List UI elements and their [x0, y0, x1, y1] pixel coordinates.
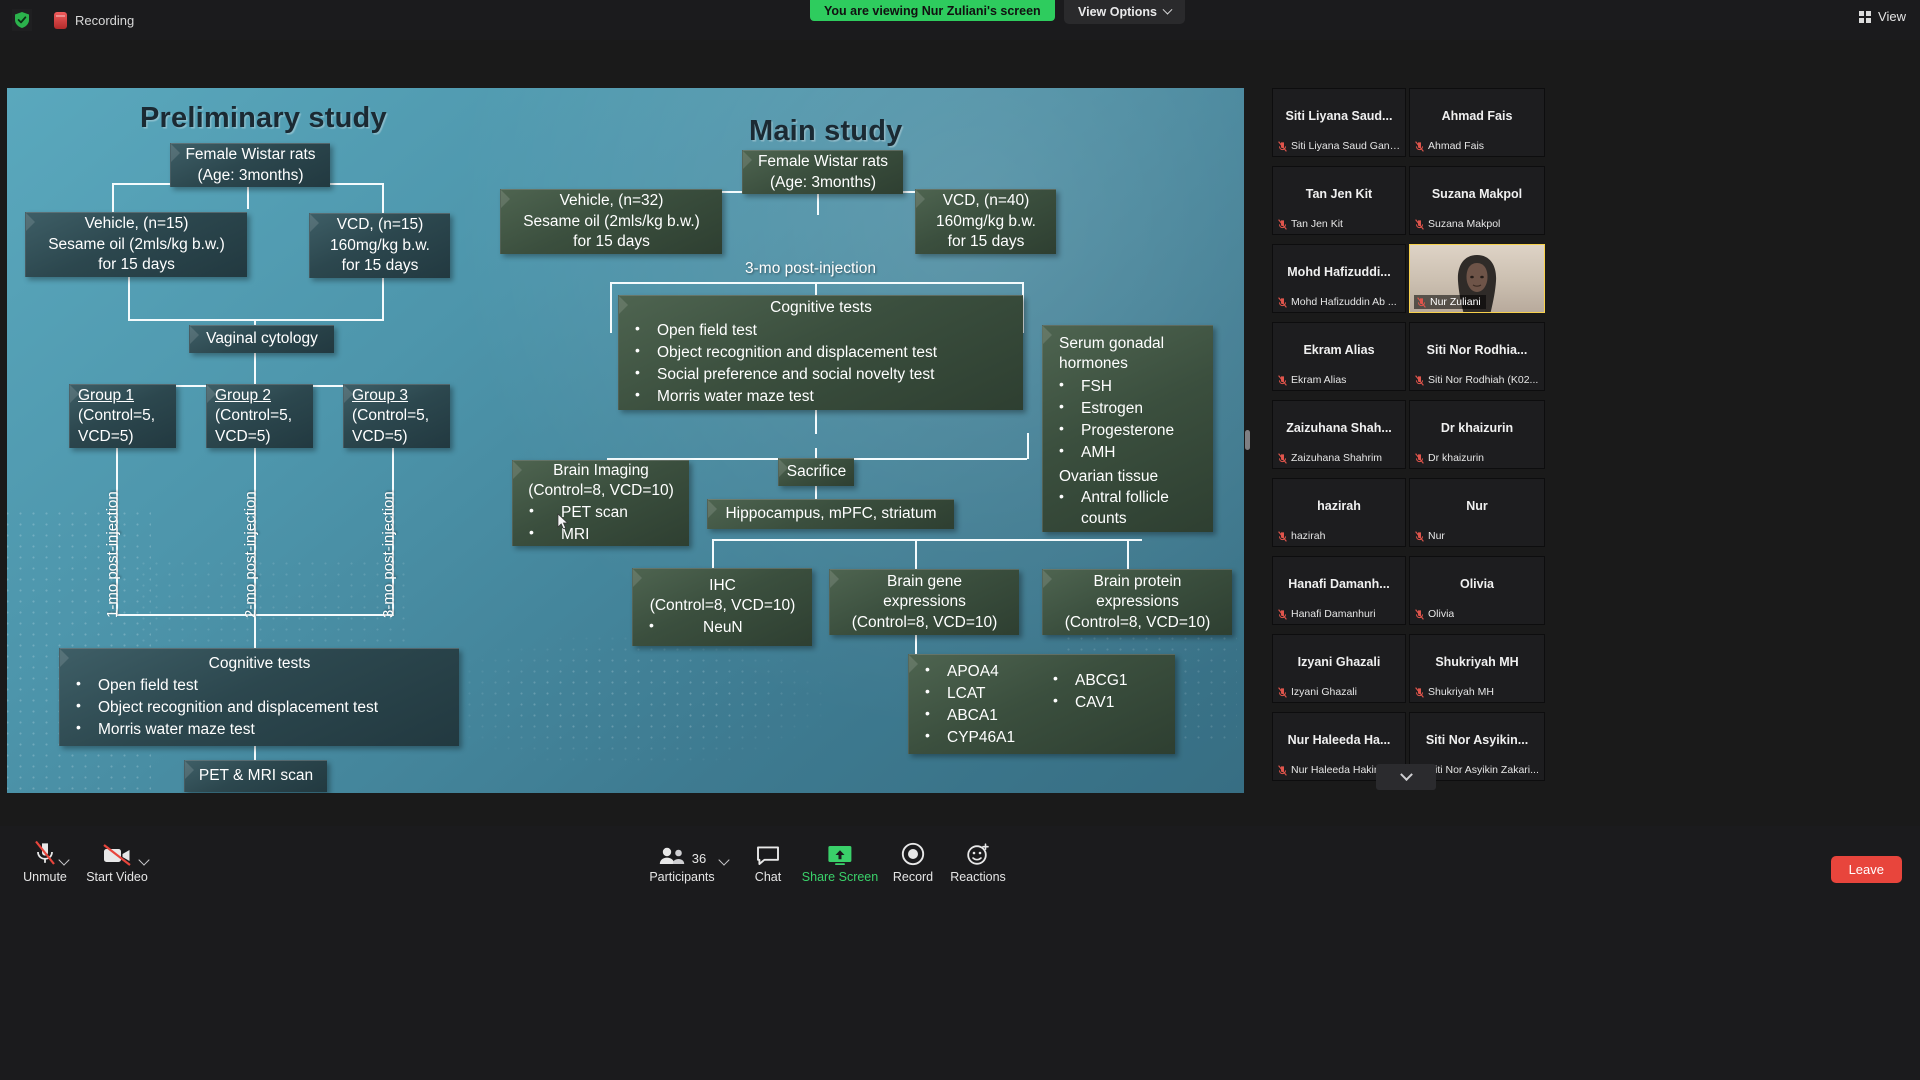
list-item: Progesterone — [1051, 420, 1205, 442]
recording-indicator[interactable]: Recording — [54, 12, 134, 29]
participant-caption: Izyani Ghazali — [1291, 686, 1357, 698]
prelim-cognitive-title: Cognitive tests — [68, 654, 451, 674]
list-item: Estrogen — [1051, 398, 1205, 420]
main-study-title: Main study — [749, 115, 902, 148]
mic-muted-icon — [1415, 609, 1424, 620]
participant-footer: Olivia — [1415, 608, 1540, 620]
ihc-line2: (Control=8, VCD=10) — [641, 596, 804, 616]
mic-muted-icon — [34, 838, 56, 866]
ihc-box: IHC (Control=8, VCD=10) NeuN — [632, 568, 812, 646]
prelim-vcd-line2: 160mg/kg b.w. — [330, 236, 430, 256]
record-label: Record — [893, 870, 933, 884]
participant-name: Zaizuhana Shah... — [1273, 421, 1405, 435]
participant-name: Olivia — [1410, 577, 1544, 591]
sacrifice-label: Sacrifice — [787, 462, 846, 482]
participant-caption: Siti Nor Asyikin Zakari... — [1428, 764, 1539, 776]
group-1-line2: VCD=5) — [78, 427, 134, 447]
participants-label: Participants — [649, 870, 714, 884]
main-vcd-line2: 160mg/kg b.w. — [936, 212, 1036, 232]
list-item: Object recognition and displacement test — [627, 342, 1015, 364]
participant-name: Siti Nor Asyikin... — [1410, 733, 1544, 747]
protein-line3: (Control=8, VCD=10) — [1065, 613, 1211, 633]
list-item: ABCA1 — [917, 705, 1045, 727]
preliminary-study-title: Preliminary study — [140, 102, 387, 135]
vaginal-cytology-box: Vaginal cytology — [189, 325, 334, 353]
main-vehicle-line3: for 15 days — [573, 232, 650, 252]
ovarian-items-list: Antral follicle counts — [1051, 488, 1205, 529]
group-2-box: Group 2 (Control=5, VCD=5) — [206, 384, 313, 448]
list-item: MRI — [521, 524, 681, 546]
participant-name: Nur — [1410, 499, 1544, 513]
list-item: CAV1 — [1045, 692, 1165, 714]
gene-list-box: APOA4 LCAT ABCA1 CYP46A1 ABCG1 CAV1 — [908, 654, 1175, 754]
participant-footer: Nur Zuliani — [1414, 295, 1486, 309]
timeline-3mo-label: 3-mo post-injection — [380, 491, 397, 618]
list-item: FSH — [1051, 376, 1205, 398]
connector — [382, 276, 384, 321]
group-1-name: Group 1 — [78, 386, 134, 406]
main-vehicle-line2: Sesame oil (2mls/kg b.w.) — [523, 212, 700, 232]
prelim-root-box: Female Wistar rats (Age: 3months) — [170, 143, 330, 187]
list-item: AMH — [1051, 442, 1205, 464]
protein-line2: expressions — [1096, 592, 1179, 612]
chevron-down-icon — [1163, 4, 1173, 14]
ihc-list: NeuN — [641, 617, 804, 639]
participant-caption: Siti Liyana Saud Gany... — [1291, 140, 1401, 152]
brain-gene-expressions-box: Brain gene expressions (Control=8, VCD=1… — [829, 569, 1019, 635]
prelim-cognitive-tests-box: Cognitive tests Open field test Object r… — [59, 648, 459, 746]
gene-line1: Brain gene — [887, 572, 962, 592]
participant-name: Ahmad Fais — [1410, 109, 1544, 123]
participant-footer: Siti Liyana Saud Gany... — [1278, 140, 1401, 152]
mouse-cursor — [557, 513, 569, 531]
participant-caption: Nur — [1428, 530, 1445, 542]
participant-name: Ekram Alias — [1273, 343, 1405, 357]
participant-footer: Ekram Alias — [1278, 374, 1401, 386]
record-icon — [901, 838, 925, 866]
panel-scroll-down-button[interactable] — [1376, 764, 1436, 790]
list-item: APOA4 — [917, 661, 1045, 683]
list-item: Morris water maze test — [68, 719, 451, 741]
group-2-line1: (Control=5, — [215, 406, 292, 426]
list-item: Object recognition and displacement test — [68, 697, 451, 719]
brain-regions-box: Hippocampus, mPFC, striatum — [707, 499, 954, 529]
connector — [247, 185, 249, 209]
participant-footer: Shukriyah MH — [1415, 686, 1540, 698]
group-2-name: Group 2 — [215, 386, 271, 406]
participant-footer: Zaizuhana Shahrim — [1278, 452, 1401, 464]
participant-tile-active-video[interactable]: Nur Zuliani — [1409, 244, 1545, 313]
connector — [1127, 539, 1129, 569]
participant-caption: Tan Jen Kit — [1291, 218, 1343, 230]
main-vehicle-box: Vehicle, (n=32) Sesame oil (2mls/kg b.w.… — [500, 189, 722, 254]
serum-title-line2: hormones — [1059, 354, 1205, 374]
participant-tile[interactable]: Ahmad Fais Ahmad Fais — [1409, 88, 1545, 157]
participant-caption: Zaizuhana Shahrim — [1291, 452, 1382, 464]
share-screen-icon — [827, 838, 853, 866]
reactions-button[interactable]: Reactions — [933, 838, 1023, 884]
list-item: Open field test — [68, 675, 451, 697]
participant-tile[interactable]: Tan Jen Kit Tan Jen Kit — [1272, 166, 1406, 235]
gene-line3: (Control=8, VCD=10) — [852, 613, 998, 633]
participant-caption: Mohd Hafizuddin Ab ... — [1291, 296, 1397, 308]
meeting-toolbar: Unmute Start Video 36 Participants Chat … — [0, 826, 1920, 1080]
group-2-line2: VCD=5) — [215, 427, 271, 447]
serum-title-line1: Serum gonadal — [1059, 334, 1205, 354]
list-item: LCAT — [917, 683, 1045, 705]
mic-muted-icon — [1417, 297, 1426, 308]
participant-footer: Hanafi Damanhuri — [1278, 608, 1401, 620]
mic-muted-icon — [1415, 687, 1424, 698]
participant-name: Mohd Hafizuddi... — [1273, 265, 1405, 279]
participant-caption: Dr khaizurin — [1428, 452, 1484, 464]
start-video-label: Start Video — [86, 870, 148, 884]
post-injection-label: 3-mo post-injection — [745, 260, 876, 278]
vaginal-cytology-label: Vaginal cytology — [206, 329, 318, 349]
mic-muted-icon — [1415, 375, 1424, 386]
list-item: CYP46A1 — [917, 727, 1045, 749]
participant-caption: hazirah — [1291, 530, 1325, 542]
participant-tile[interactable]: Zaizuhana Shah... Zaizuhana Shahrim — [1272, 400, 1406, 469]
list-item: Open field test — [627, 320, 1015, 342]
participant-name: Siti Liyana Saud... — [1273, 109, 1405, 123]
mic-muted-icon — [1278, 609, 1287, 620]
participant-tile[interactable]: hazirah hazirah — [1272, 478, 1406, 547]
list-item: PET scan — [521, 502, 681, 524]
participant-name: Izyani Ghazali — [1273, 655, 1405, 669]
view-label: View — [1878, 9, 1906, 24]
connector — [815, 410, 817, 434]
participant-name: Hanafi Damanh... — [1273, 577, 1405, 591]
prelim-vehicle-line1: Vehicle, (n=15) — [85, 214, 189, 234]
encryption-shield-icon[interactable] — [12, 9, 32, 31]
participant-name: Tan Jen Kit — [1273, 187, 1405, 201]
prelim-cognitive-list: Open field test Object recognition and d… — [68, 675, 451, 741]
participant-tile[interactable]: Izyani Ghazali Izyani Ghazali — [1272, 634, 1406, 703]
brain-protein-expressions-box: Brain protein expressions (Control=8, VC… — [1042, 569, 1232, 635]
sacrifice-box: Sacrifice — [778, 458, 854, 486]
participant-tile[interactable]: Mohd Hafizuddi... Mohd Hafizuddin Ab ... — [1272, 244, 1406, 313]
top-bar: Recording You are viewing Nur Zuliani's … — [0, 0, 1920, 40]
reactions-icon — [966, 838, 990, 866]
recording-label: Recording — [75, 13, 134, 28]
connector — [817, 193, 819, 215]
participant-footer: hazirah — [1278, 530, 1401, 542]
participant-caption: Hanafi Damanhuri — [1291, 608, 1376, 620]
pet-mri-label: PET & MRI scan — [199, 766, 313, 786]
participant-footer: Suzana Makpol — [1415, 218, 1540, 230]
participants-count: 36 — [692, 851, 706, 866]
view-button[interactable]: View — [1859, 9, 1906, 24]
leave-button[interactable]: Leave — [1831, 856, 1902, 883]
participant-name: Shukriyah MH — [1410, 655, 1544, 669]
brain-imaging-box: Brain Imaging (Control=8, VCD=10) PET sc… — [512, 460, 689, 546]
brain-imaging-line2: (Control=8, VCD=10) — [521, 481, 681, 501]
group-3-box: Group 3 (Control=5, VCD=5) — [343, 384, 450, 448]
participants-button[interactable]: 36 Participants — [637, 838, 727, 884]
main-vcd-line3: for 15 days — [948, 232, 1025, 252]
main-cognitive-list: Open field test Object recognition and d… — [627, 320, 1015, 408]
list-item: NeuN — [641, 617, 804, 639]
mic-muted-icon — [1278, 219, 1287, 230]
prelim-vcd-line1: VCD, (n=15) — [337, 215, 424, 235]
video-muted-icon — [102, 838, 132, 866]
brain-imaging-line1: Brain Imaging — [521, 461, 681, 481]
list-item: ABCG1 — [1045, 670, 1165, 692]
pet-mri-scan-box: PET & MRI scan — [184, 760, 327, 792]
participant-caption: Siti Nor Rodhiah (K02... — [1428, 374, 1538, 386]
participant-tile[interactable]: Siti Nor Rodhia... Siti Nor Rodhiah (K02… — [1409, 322, 1545, 391]
participant-caption: Ahmad Fais — [1428, 140, 1484, 152]
mic-muted-icon — [1278, 687, 1287, 698]
brain-imaging-list: PET scan MRI — [521, 502, 681, 546]
participant-footer: Mohd Hafizuddin Ab ... — [1278, 296, 1401, 308]
serum-ovarian-box: Serum gonadal hormones FSH Estrogen Prog… — [1042, 325, 1213, 532]
mic-muted-icon — [1278, 297, 1287, 308]
connector — [610, 283, 612, 333]
connector — [382, 183, 384, 217]
participant-caption: Nur Haleeda Hakimi — [1291, 764, 1385, 776]
ovarian-tissue-title: Ovarian tissue — [1051, 467, 1205, 487]
mic-muted-icon — [1278, 531, 1287, 542]
reactions-label: Reactions — [950, 870, 1006, 884]
group-3-name: Group 3 — [352, 386, 408, 406]
main-vcd-box: VCD, (n=40) 160mg/kg b.w. for 15 days — [915, 189, 1056, 254]
participant-footer: Ahmad Fais — [1415, 140, 1540, 152]
mic-muted-icon — [1415, 453, 1424, 464]
participant-name: Suzana Makpol — [1410, 187, 1544, 201]
group-1-box: Group 1 (Control=5, VCD=5) — [69, 384, 176, 448]
mic-muted-icon — [1278, 375, 1287, 386]
timeline-2mo-label: 2-mo post-injection — [242, 491, 259, 618]
participant-tile[interactable]: Olivia Olivia — [1409, 556, 1545, 625]
mic-muted-icon — [1415, 219, 1424, 230]
participant-footer: Dr khaizurin — [1415, 452, 1540, 464]
connector — [128, 276, 130, 321]
list-item: Social preference and social novelty tes… — [627, 364, 1015, 386]
leave-label: Leave — [1849, 862, 1884, 877]
main-root-box: Female Wistar rats (Age: 3months) — [742, 150, 903, 194]
group-3-line2: VCD=5) — [352, 427, 408, 447]
view-options-label: View Options — [1078, 5, 1157, 19]
prelim-vehicle-line2: Sesame oil (2mls/kg b.w.) — [48, 235, 225, 255]
main-root-line2: (Age: 3months) — [770, 173, 876, 193]
participants-icon: 36 — [658, 838, 706, 866]
gene-column-1: APOA4 LCAT ABCA1 CYP46A1 — [917, 661, 1045, 749]
participant-tile[interactable]: Ekram Alias Ekram Alias — [1272, 322, 1406, 391]
participant-name: hazirah — [1273, 499, 1405, 513]
mic-muted-icon — [1278, 453, 1287, 464]
mic-muted-icon — [1278, 765, 1287, 776]
prelim-vcd-line3: for 15 days — [342, 256, 419, 276]
share-banner-text: You are viewing Nur Zuliani's screen — [824, 4, 1041, 18]
participant-tile[interactable]: Siti Liyana Saud... Siti Liyana Saud Gan… — [1272, 88, 1406, 157]
participant-name: Siti Nor Rodhia... — [1410, 343, 1544, 357]
participant-caption: Shukriyah MH — [1428, 686, 1494, 698]
timeline-1mo-label: 1-mo post-injection — [104, 491, 121, 618]
participant-caption: Ekram Alias — [1291, 374, 1346, 386]
mic-muted-icon — [1415, 531, 1424, 542]
brain-regions-label: Hippocampus, mPFC, striatum — [725, 504, 936, 524]
main-vcd-line1: VCD, (n=40) — [943, 191, 1030, 211]
main-root-line1: Female Wistar rats — [758, 152, 888, 172]
connector — [915, 539, 917, 569]
participant-tile[interactable]: Suzana Makpol Suzana Makpol — [1409, 166, 1545, 235]
participant-tile[interactable]: Nur Nur — [1409, 478, 1545, 547]
decorative-dots — [437, 633, 827, 768]
unmute-label: Unmute — [23, 870, 67, 884]
serum-hormones-list: FSH Estrogen Progesterone AMH — [1051, 376, 1205, 464]
chat-icon — [756, 838, 780, 866]
group-3-line1: (Control=5, — [352, 406, 429, 426]
prelim-root-line2: (Age: 3months) — [198, 166, 304, 186]
group-1-line1: (Control=5, — [78, 406, 155, 426]
mic-muted-icon — [1415, 141, 1424, 152]
main-vehicle-line1: Vehicle, (n=32) — [560, 191, 664, 211]
participant-tile[interactable]: Shukriyah MH Shukriyah MH — [1409, 634, 1545, 703]
connector — [712, 539, 714, 569]
protein-line1: Brain protein — [1094, 572, 1182, 592]
grid-view-icon — [1859, 11, 1871, 23]
chat-label: Chat — [755, 870, 781, 884]
participant-footer: Izyani Ghazali — [1278, 686, 1401, 698]
scroll-pip[interactable] — [1245, 430, 1250, 450]
prelim-vehicle-line3: for 15 days — [98, 255, 175, 275]
prelim-vehicle-box: Vehicle, (n=15) Sesame oil (2mls/kg b.w.… — [25, 212, 247, 277]
main-cognitive-title: Cognitive tests — [627, 298, 1015, 318]
record-icon — [54, 12, 67, 29]
participant-caption: Olivia — [1428, 608, 1454, 620]
prelim-root-line1: Female Wistar rats — [185, 145, 315, 165]
prelim-vcd-box: VCD, (n=15) 160mg/kg b.w. for 15 days — [309, 213, 450, 278]
participant-tile[interactable]: Hanafi Damanh... Hanafi Damanhuri — [1272, 556, 1406, 625]
participant-video-panel: Siti Liyana Saud... Siti Liyana Saud Gan… — [1272, 88, 1686, 816]
participant-caption: Nur Zuliani — [1430, 296, 1481, 308]
connector — [712, 539, 1142, 541]
main-cognitive-tests-box: Cognitive tests Open field test Object r… — [618, 295, 1023, 410]
mic-muted-icon — [1278, 141, 1287, 152]
participant-tile[interactable]: Dr khaizurin Dr khaizurin — [1409, 400, 1545, 469]
chevron-down-icon — [1400, 768, 1413, 781]
participant-footer: Tan Jen Kit — [1278, 218, 1401, 230]
list-item: Antral follicle counts — [1051, 488, 1205, 529]
list-item: Morris water maze test — [627, 386, 1015, 408]
participant-footer: Nur — [1415, 530, 1540, 542]
share-screen-label: Share Screen — [802, 870, 878, 884]
gene-column-2: ABCG1 CAV1 — [1045, 670, 1165, 714]
participant-name: Dr khaizurin — [1410, 421, 1544, 435]
connector — [1027, 433, 1029, 459]
participant-footer: Siti Nor Rodhiah (K02... — [1415, 374, 1540, 386]
shared-screen-slide[interactable]: Preliminary study Female Wistar rats (Ag… — [7, 88, 1244, 793]
participant-name: Nur Haleeda Ha... — [1273, 733, 1405, 747]
view-options-button[interactable]: View Options — [1064, 0, 1185, 24]
participant-caption: Suzana Makpol — [1428, 218, 1500, 230]
ihc-line1: IHC — [641, 576, 804, 596]
gene-line2: expressions — [883, 592, 966, 612]
share-banner: You are viewing Nur Zuliani's screen — [810, 0, 1055, 21]
